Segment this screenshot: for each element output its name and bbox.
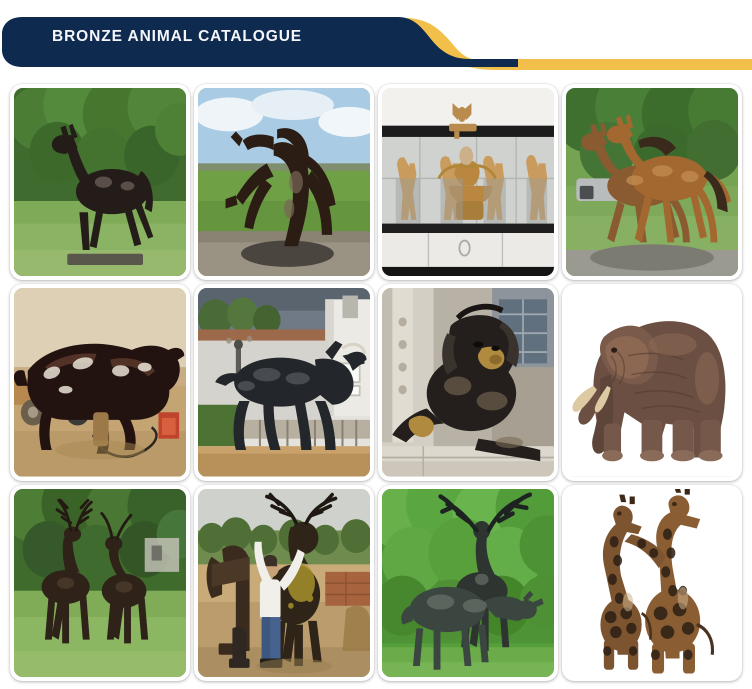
product-thumbnail [382, 288, 554, 476]
bull-charging-image [14, 288, 186, 476]
product-thumbnail [382, 88, 554, 276]
page-header: BRONZE ANIMAL CATALOGUE [0, 0, 752, 78]
bull-standing-image [198, 288, 370, 476]
product-thumbnail [198, 88, 370, 276]
lion-lying-image [382, 288, 554, 476]
deer-pair-foliage-image [382, 489, 554, 677]
horse-walking-image [14, 88, 186, 276]
page-title: BRONZE ANIMAL CATALOGUE [52, 27, 302, 47]
product-thumbnail [566, 489, 738, 677]
horse-rearing-image [198, 88, 370, 276]
product-thumbnail [14, 88, 186, 276]
product-thumbnail [14, 489, 186, 677]
product-card[interactable]: Two bronze deer statues in front of gree… [378, 485, 558, 681]
product-card[interactable]: Two bronze giraffe statues on white back… [562, 485, 742, 681]
product-card[interactable]: Golden bronze quadriga chariot with eagl… [378, 84, 558, 280]
product-card[interactable]: Bronze rearing horse statue on green fie… [194, 84, 374, 280]
deer-with-person-image [198, 489, 370, 677]
product-card[interactable]: Bronze charging bull statue in workshop [10, 284, 190, 480]
product-card[interactable]: Two bronze running horses statue in park [562, 84, 742, 280]
product-thumbnail [382, 489, 554, 677]
header-yellow-stripe [498, 59, 752, 66]
product-card[interactable]: Bronze standing bull statue outdoors [194, 284, 374, 480]
product-thumbnail [566, 88, 738, 276]
elephant-image [566, 288, 738, 476]
product-card[interactable]: Man standing beside large bronze deer st… [194, 485, 374, 681]
product-thumbnail [198, 288, 370, 476]
product-grid: Bronze walking horse statue on grass wit… [0, 78, 752, 689]
product-thumbnail [566, 288, 738, 476]
product-card[interactable]: Bronze walking horse statue on grass wit… [10, 84, 190, 280]
horses-running-image [566, 88, 738, 276]
quadriga-chariot-image [382, 88, 554, 276]
catalogue-page: BRONZE ANIMAL CATALOGUE [0, 0, 752, 689]
product-thumbnail [198, 489, 370, 677]
product-card[interactable]: Bronze elephant statue on white backgrou… [562, 284, 742, 480]
product-thumbnail [14, 288, 186, 476]
deer-pair-lawn-image [14, 489, 186, 677]
giraffes-image [566, 489, 738, 677]
product-card[interactable]: Two bronze deer statues on lawn [10, 485, 190, 681]
product-card[interactable]: Bronze lying lion statue outside buildin… [378, 284, 558, 480]
